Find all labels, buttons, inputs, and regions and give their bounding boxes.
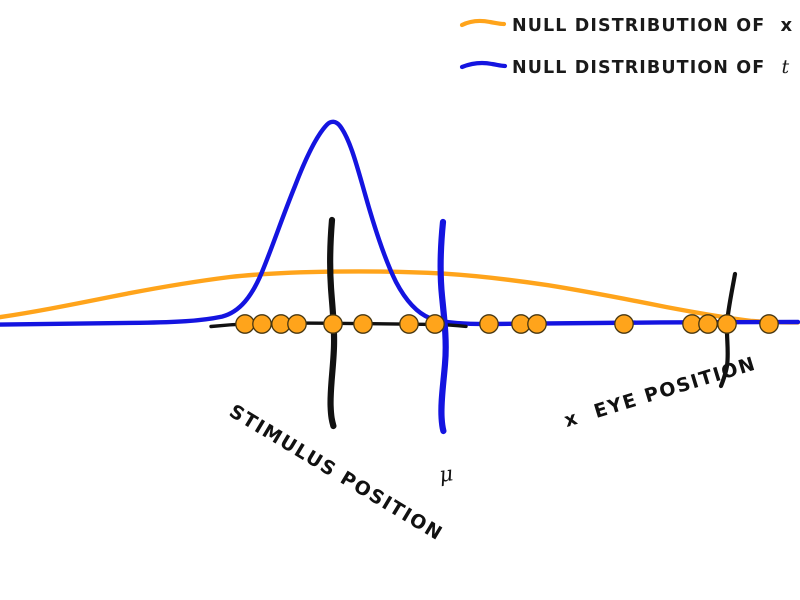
curve-null-distribution-x: [0, 271, 798, 322]
data-point[interactable]: [288, 315, 306, 333]
data-point[interactable]: [528, 315, 546, 333]
mu-axis-label: μ: [438, 461, 455, 487]
legend-label-t-text: NULL DISTRIBUTION OF: [512, 58, 765, 78]
eye-position-symbol: x: [562, 407, 582, 432]
data-point[interactable]: [324, 315, 342, 333]
data-point[interactable]: [480, 315, 498, 333]
legend-label-x-text: NULL DISTRIBUTION OF: [512, 16, 765, 36]
legend-label-t: NULL DISTRIBUTION OF t: [512, 56, 790, 78]
stimulus-position-label: STIMULUS POSITION: [225, 400, 447, 545]
legend-entry-null-distribution-t[interactable]: NULL DISTRIBUTION OF t: [462, 56, 790, 78]
data-point[interactable]: [699, 315, 717, 333]
legend-swatch-orange-line: [462, 21, 504, 25]
data-point[interactable]: [400, 315, 418, 333]
eye-position-label: x EYE POSITION: [562, 353, 759, 432]
data-point[interactable]: [718, 315, 736, 333]
legend-swatch-blue-line: [462, 63, 505, 67]
legend-label-x: NULL DISTRIBUTION OF x: [512, 15, 793, 36]
data-point[interactable]: [615, 315, 633, 333]
legend-symbol-t: t: [781, 56, 790, 78]
sketch-figure: NULL DISTRIBUTION OF x NULL DISTRIBUTION…: [0, 0, 800, 600]
legend-symbol-x: x: [780, 15, 793, 36]
figure-canvas: NULL DISTRIBUTION OF x NULL DISTRIBUTION…: [0, 0, 800, 600]
data-point[interactable]: [760, 315, 778, 333]
legend: NULL DISTRIBUTION OF x NULL DISTRIBUTION…: [462, 15, 793, 78]
legend-entry-null-distribution-x[interactable]: NULL DISTRIBUTION OF x: [462, 15, 793, 36]
data-point[interactable]: [253, 315, 271, 333]
data-point[interactable]: [236, 315, 254, 333]
data-point[interactable]: [426, 315, 444, 333]
eye-position-text: EYE POSITION: [591, 353, 759, 423]
data-point[interactable]: [354, 315, 372, 333]
